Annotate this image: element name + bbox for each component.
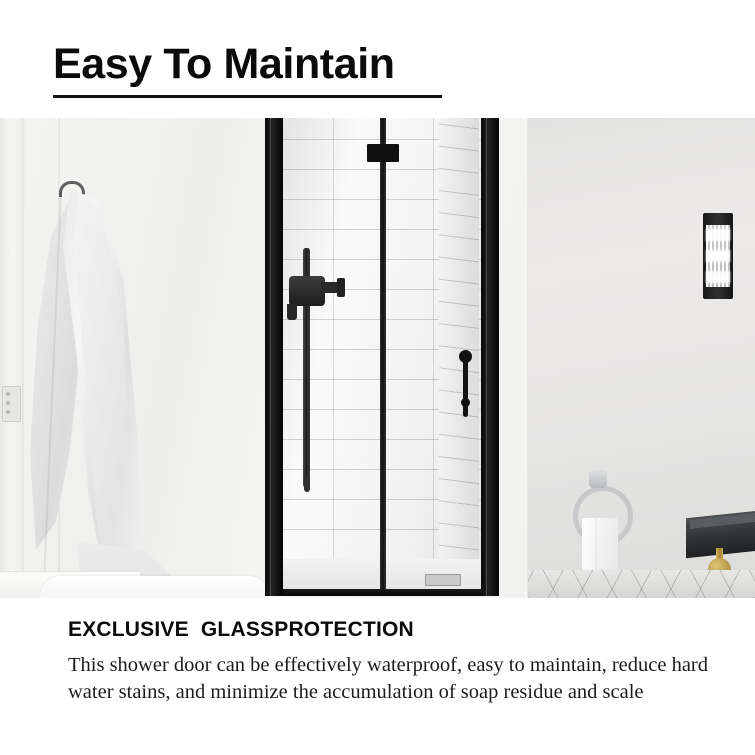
title-underline-rule bbox=[53, 95, 442, 98]
towel-ring-mount bbox=[589, 470, 607, 488]
sconce-glow bbox=[706, 229, 730, 241]
caption-block: EXCLUSIVE GLASSPROTECTION This shower do… bbox=[0, 598, 755, 755]
caption-body: This shower door can be effectively wate… bbox=[68, 652, 723, 706]
mixer-spout bbox=[287, 304, 297, 320]
black-shower-mixer-valve bbox=[289, 276, 325, 306]
caption-title: EXCLUSIVE GLASSPROTECTION bbox=[68, 617, 414, 643]
control-dot-icon bbox=[6, 410, 10, 414]
tile-grout-line bbox=[333, 118, 334, 590]
shower-threshold-track bbox=[281, 589, 485, 596]
door-handle-knob bbox=[459, 350, 472, 363]
frame-highlight bbox=[270, 118, 271, 596]
heading-block: Easy To Maintain bbox=[0, 0, 755, 118]
bathtub-lip bbox=[40, 576, 270, 598]
page-title: Easy To Maintain bbox=[53, 39, 395, 89]
black-framed-shower-enclosure bbox=[263, 118, 503, 598]
control-dot-icon bbox=[6, 392, 10, 396]
marble-mosaic-floor-tile bbox=[528, 570, 755, 598]
mullion-bracket bbox=[367, 144, 399, 162]
black-ribbed-wall-sconce bbox=[703, 213, 733, 299]
shower-control-plate-icon bbox=[2, 386, 21, 422]
shower-frame-post-right bbox=[481, 118, 499, 596]
sconce-glow bbox=[706, 250, 730, 262]
product-feature-card: Easy To Maintain bbox=[0, 0, 755, 755]
shower-drain-icon bbox=[425, 574, 461, 586]
tile-grout-line bbox=[433, 118, 434, 590]
hanging-bath-towel bbox=[24, 190, 148, 598]
feature-photo bbox=[0, 118, 755, 598]
slide-bar-tip bbox=[304, 476, 310, 492]
black-door-handle bbox=[463, 355, 468, 417]
left-bathroom-view bbox=[0, 118, 527, 598]
wall-left-edge bbox=[0, 118, 22, 598]
door-handle-boss bbox=[461, 398, 470, 407]
shower-frame-post-left bbox=[265, 118, 283, 596]
mixer-handle bbox=[321, 282, 341, 293]
frame-highlight bbox=[486, 118, 487, 596]
sconce-glow bbox=[706, 271, 730, 283]
right-bathroom-view bbox=[528, 118, 755, 598]
door-center-mullion bbox=[380, 118, 386, 590]
control-dot-icon bbox=[6, 401, 10, 405]
